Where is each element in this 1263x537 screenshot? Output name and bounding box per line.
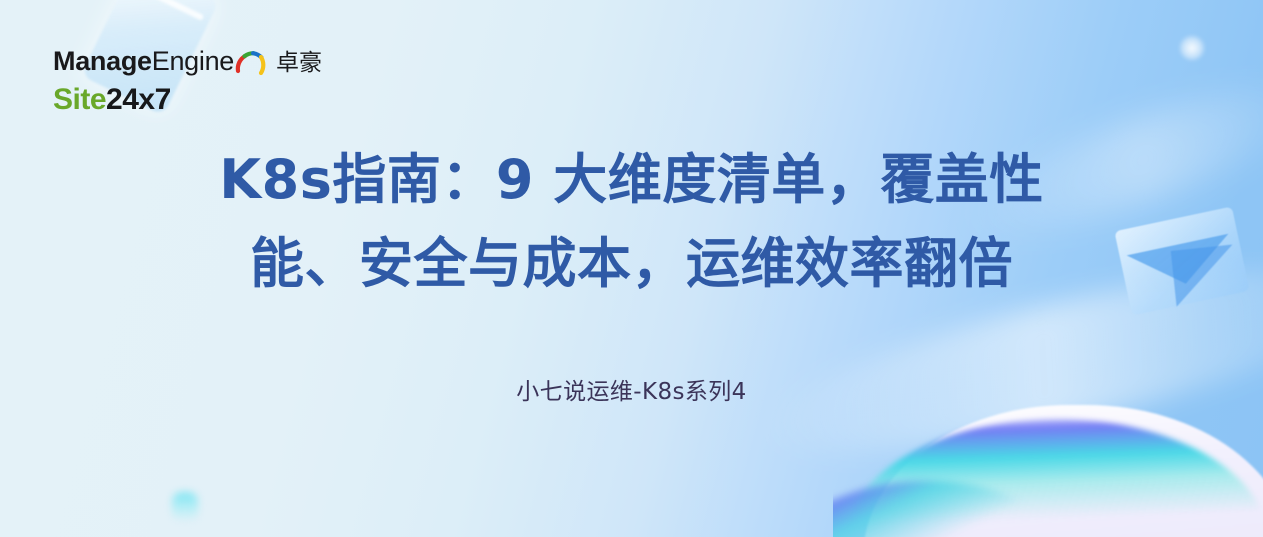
- site24x7-site-text: Site: [53, 83, 106, 116]
- wave-band-primary-icon: [847, 419, 1263, 537]
- page-subtitle: 小七说运维-K8s系列4: [0, 372, 1263, 406]
- manageengine-wordmark: ManageEngine 卓豪: [53, 48, 322, 78]
- wave-band-secondary-icon: [833, 462, 1124, 537]
- site24x7-number-text: 24x7: [106, 83, 171, 116]
- site24x7-wordmark: Site24x7: [53, 85, 322, 115]
- manageengine-chinese-name: 卓豪: [276, 52, 322, 75]
- cyan-glow-dot-icon: [172, 492, 198, 522]
- wave-blob-icon: [863, 405, 1263, 537]
- page-title-line-2: 能、安全与成本，运维效率翻倍: [0, 222, 1263, 306]
- brand-logo: ManageEngine 卓豪 Site24x7: [53, 48, 322, 115]
- white-glow-dot-icon: [1180, 36, 1204, 60]
- page-title-line-1: K8s指南：9 大维度清单，覆盖性: [0, 138, 1263, 222]
- page-title: K8s指南：9 大维度清单，覆盖性 能、安全与成本，运维效率翻倍: [0, 138, 1263, 306]
- slide-canvas: ManageEngine 卓豪 Site24x7 K8s指南：9 大维度清单，覆…: [0, 0, 1263, 537]
- manageengine-engine-text: Engine: [152, 48, 234, 75]
- manageengine-swoosh-icon: [235, 49, 269, 79]
- manageengine-manage-text: Manage: [53, 48, 152, 75]
